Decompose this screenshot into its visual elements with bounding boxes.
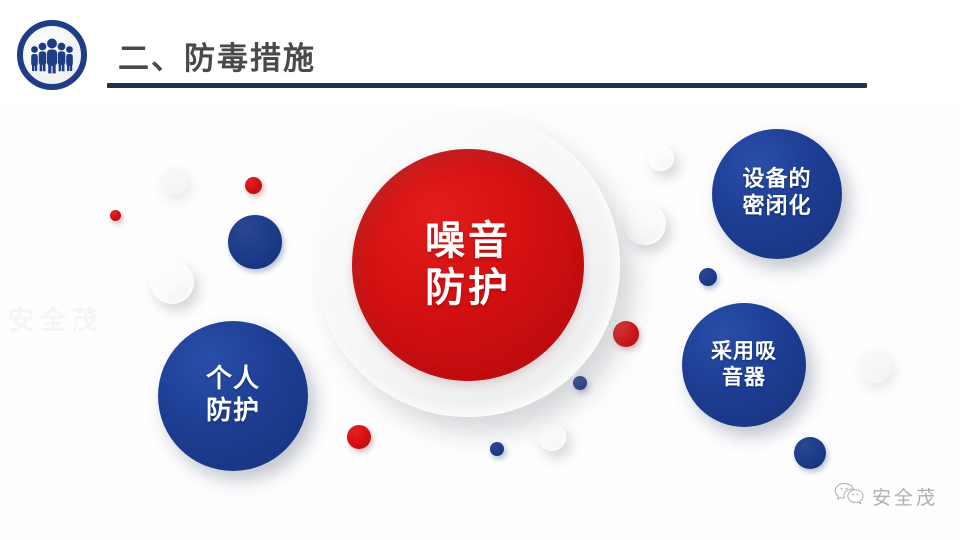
wechat-watermark: 安全茂 <box>834 482 938 510</box>
node-equipment-sealing[interactable]: 设备的 密闭化 <box>712 129 842 259</box>
wechat-icon <box>834 482 864 510</box>
decor-dot-red <box>347 425 371 449</box>
decor-dot-white <box>538 423 566 451</box>
watermark-label: 安全茂 <box>872 483 938 510</box>
decor-dot-red <box>245 177 262 194</box>
people-group-icon <box>16 19 88 91</box>
decor-dot-white <box>648 145 674 171</box>
decor-dot-blue <box>228 215 282 269</box>
node-label-line-1: 采用吸 <box>711 339 777 365</box>
decor-dot-red <box>110 210 121 221</box>
background-watermark: 安全茂 <box>8 300 104 337</box>
decor-dot-white <box>150 260 194 304</box>
decor-dot-blue <box>794 437 826 469</box>
node-label-line-2: 密闭化 <box>742 194 811 221</box>
decor-dot-blue <box>490 442 504 456</box>
node-sound-absorber[interactable]: 采用吸 音器 <box>682 303 806 427</box>
node-label-line-1: 设备的 <box>742 167 811 194</box>
decor-dot-ghost <box>160 167 188 195</box>
slide-header: 二、防毒措施 <box>0 0 960 110</box>
diagram-canvas: 安全茂 噪音 防护 个人 防护 设备的 密闭化 采用吸 音器 <box>0 105 960 540</box>
node-label-line-2: 防护 <box>206 396 260 428</box>
node-label-line-2: 防护 <box>425 265 511 312</box>
decor-dot-red <box>613 321 639 347</box>
decor-dot-blue <box>573 376 587 390</box>
decor-dot-ghost <box>858 349 892 383</box>
node-label-line-1: 个人 <box>206 364 260 396</box>
node-label-line-2: 音器 <box>722 365 766 391</box>
decor-dot-blue <box>699 268 717 286</box>
node-noise-protection[interactable]: 噪音 防护 <box>352 149 584 381</box>
page-title: 二、防毒措施 <box>118 33 316 78</box>
decor-dot-white <box>624 203 666 245</box>
node-label-line-1: 噪音 <box>425 218 511 265</box>
node-personal-protection[interactable]: 个人 防护 <box>158 321 308 471</box>
title-underline <box>107 83 867 88</box>
slide-root: 二、防毒措施 安全茂 噪音 防护 个人 防护 设备的 密闭化 采用吸 音器 <box>0 0 960 540</box>
